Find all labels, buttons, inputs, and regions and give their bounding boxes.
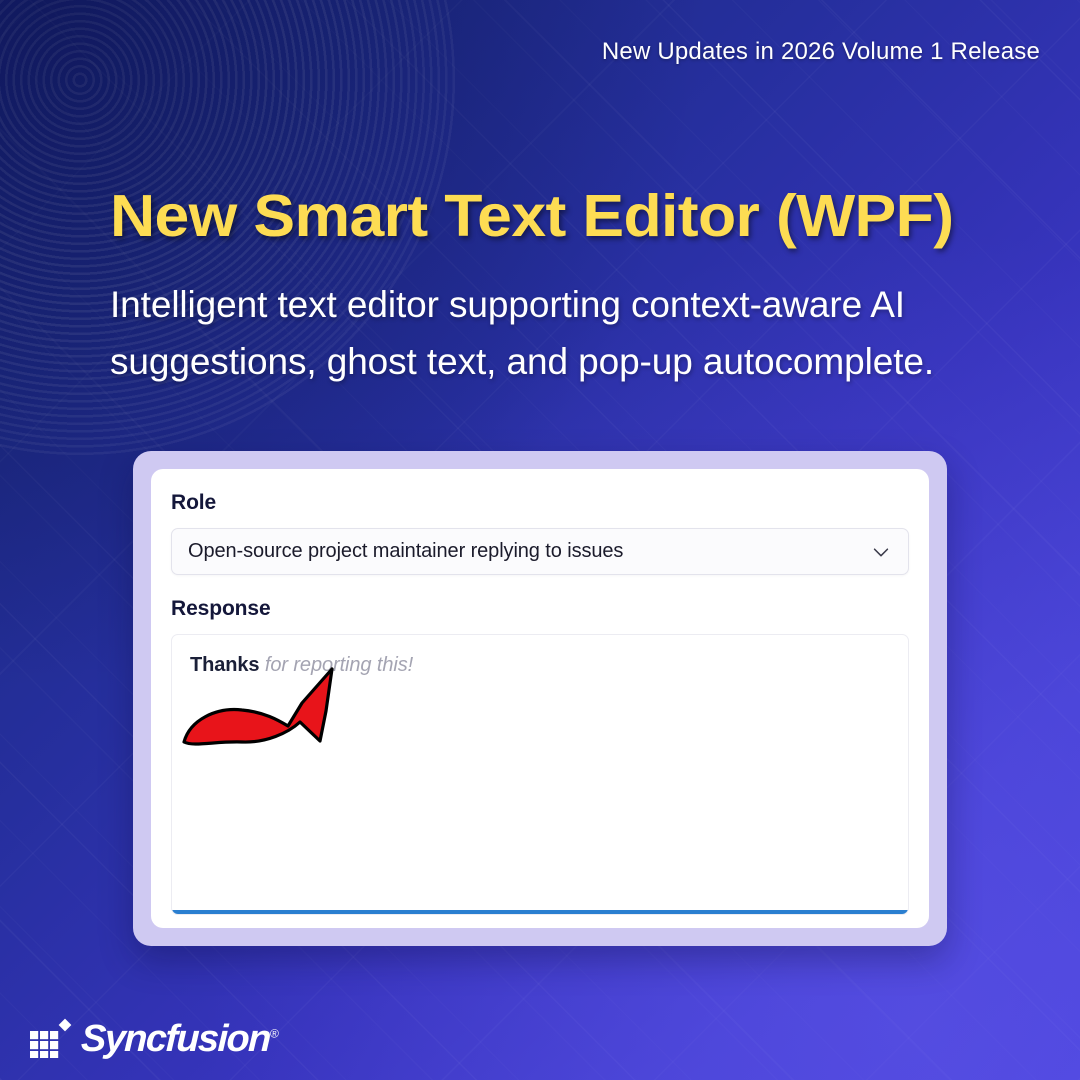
- page-title: New Smart Text Editor (WPF): [110, 186, 953, 248]
- registered-trademark-symbol: ®: [270, 1026, 279, 1040]
- promo-banner: New Updates in 2026 Volume 1 Release New…: [0, 0, 1080, 1080]
- ghost-text: for reporting this!: [259, 654, 413, 676]
- chevron-down-icon[interactable]: [870, 541, 892, 563]
- typed-text: Thanks: [190, 654, 259, 676]
- syncfusion-logo: Syncfusion®: [30, 1014, 279, 1058]
- syncfusion-wordmark: Syncfusion®: [80, 1020, 279, 1058]
- role-dropdown[interactable]: Open-source project maintainer replying …: [171, 528, 909, 575]
- response-textarea[interactable]: Thanks for reporting this!: [171, 634, 909, 915]
- response-label: Response: [171, 597, 909, 621]
- role-dropdown-value: Open-source project maintainer replying …: [188, 540, 870, 563]
- syncfusion-brand-text: Syncfusion: [80, 1018, 270, 1060]
- editor-focus-underline: [172, 910, 908, 914]
- role-label: Role: [171, 491, 909, 515]
- smart-text-editor-panel: Role Open-source project maintainer repl…: [151, 469, 929, 928]
- page-description: Intelligent text editor supporting conte…: [110, 277, 960, 390]
- product-screenshot-frame: Role Open-source project maintainer repl…: [133, 451, 947, 946]
- editor-first-line: Thanks for reporting this!: [190, 654, 890, 677]
- syncfusion-logo-mark-icon: [30, 1018, 76, 1058]
- release-eyebrow: New Updates in 2026 Volume 1 Release: [602, 38, 1040, 66]
